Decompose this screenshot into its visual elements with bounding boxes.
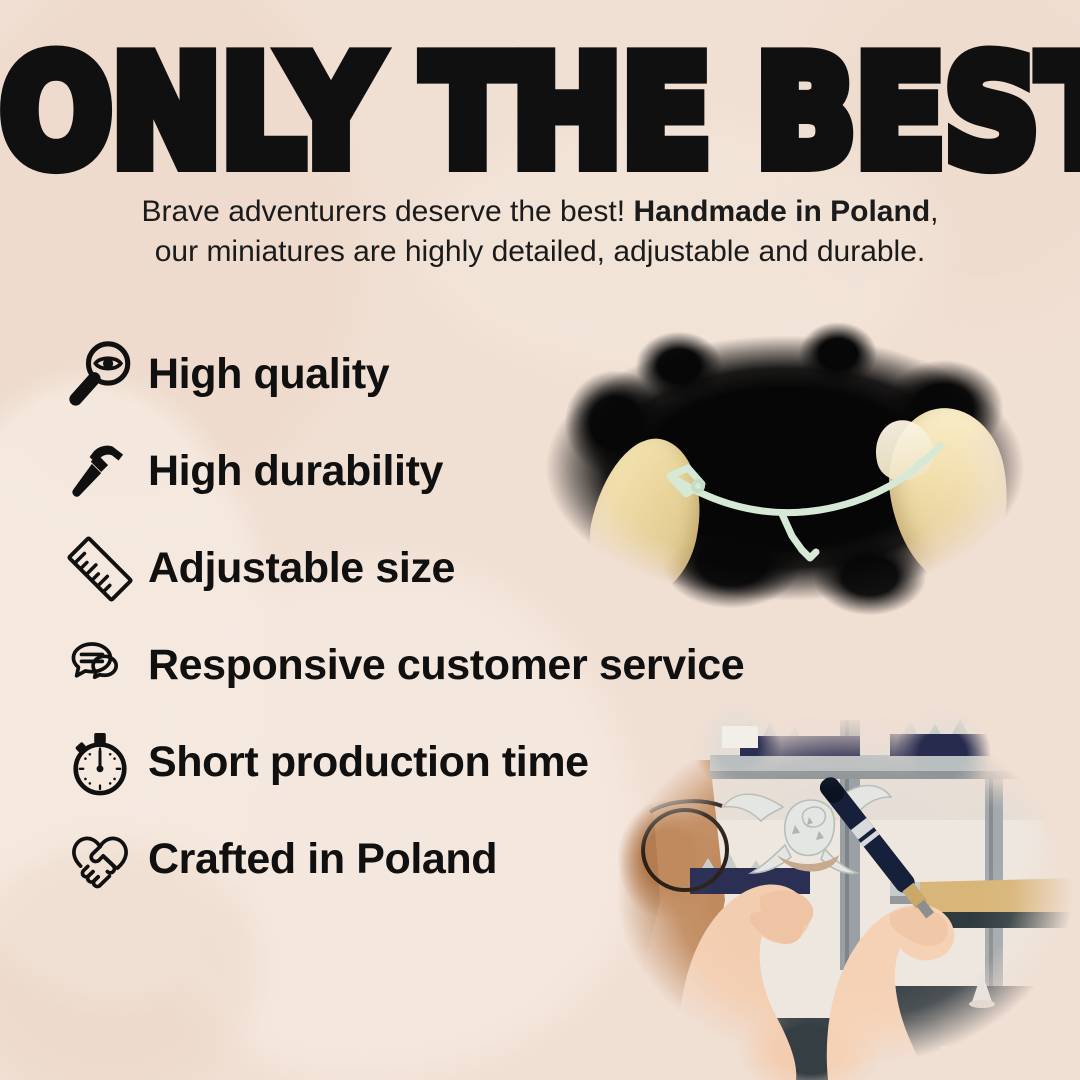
workshop-painting-photo	[590, 700, 1080, 1080]
magnifier-eye-icon	[62, 337, 138, 413]
promo-graphic: ONLY THE BEST Brave adventurers deserve …	[0, 0, 1080, 1080]
feature-label: High quality	[148, 350, 389, 399]
flexible-miniature-part	[520, 318, 1050, 618]
speech-bubbles-icon	[62, 628, 138, 704]
feature-label: High durability	[148, 447, 443, 496]
subtitle-tail: ,	[930, 195, 938, 228]
photo-scene	[590, 700, 1080, 1080]
feature-label: Crafted in Poland	[148, 835, 497, 884]
hammer-icon	[62, 434, 138, 510]
feature-label: Short production time	[148, 738, 589, 787]
feature-label: Responsive customer service	[148, 641, 744, 690]
subtitle-highlight: Handmade in Poland	[633, 195, 930, 228]
subtitle: Brave adventurers deserve the best! Hand…	[60, 192, 1020, 272]
heart-handshake-icon	[62, 822, 138, 898]
photo-backdrop	[520, 318, 1050, 618]
stopwatch-icon	[62, 725, 138, 801]
flexible-miniature-photo	[520, 318, 1050, 618]
headline: ONLY THE BEST	[0, 38, 1080, 188]
ruler-icon	[62, 531, 138, 607]
subtitle-lead: Brave adventurers deserve the best!	[141, 195, 625, 228]
subtitle-line2: our miniatures are highly detailed, adju…	[155, 235, 926, 268]
feature-label: Adjustable size	[148, 544, 455, 593]
workshop-scene	[590, 700, 1080, 1080]
